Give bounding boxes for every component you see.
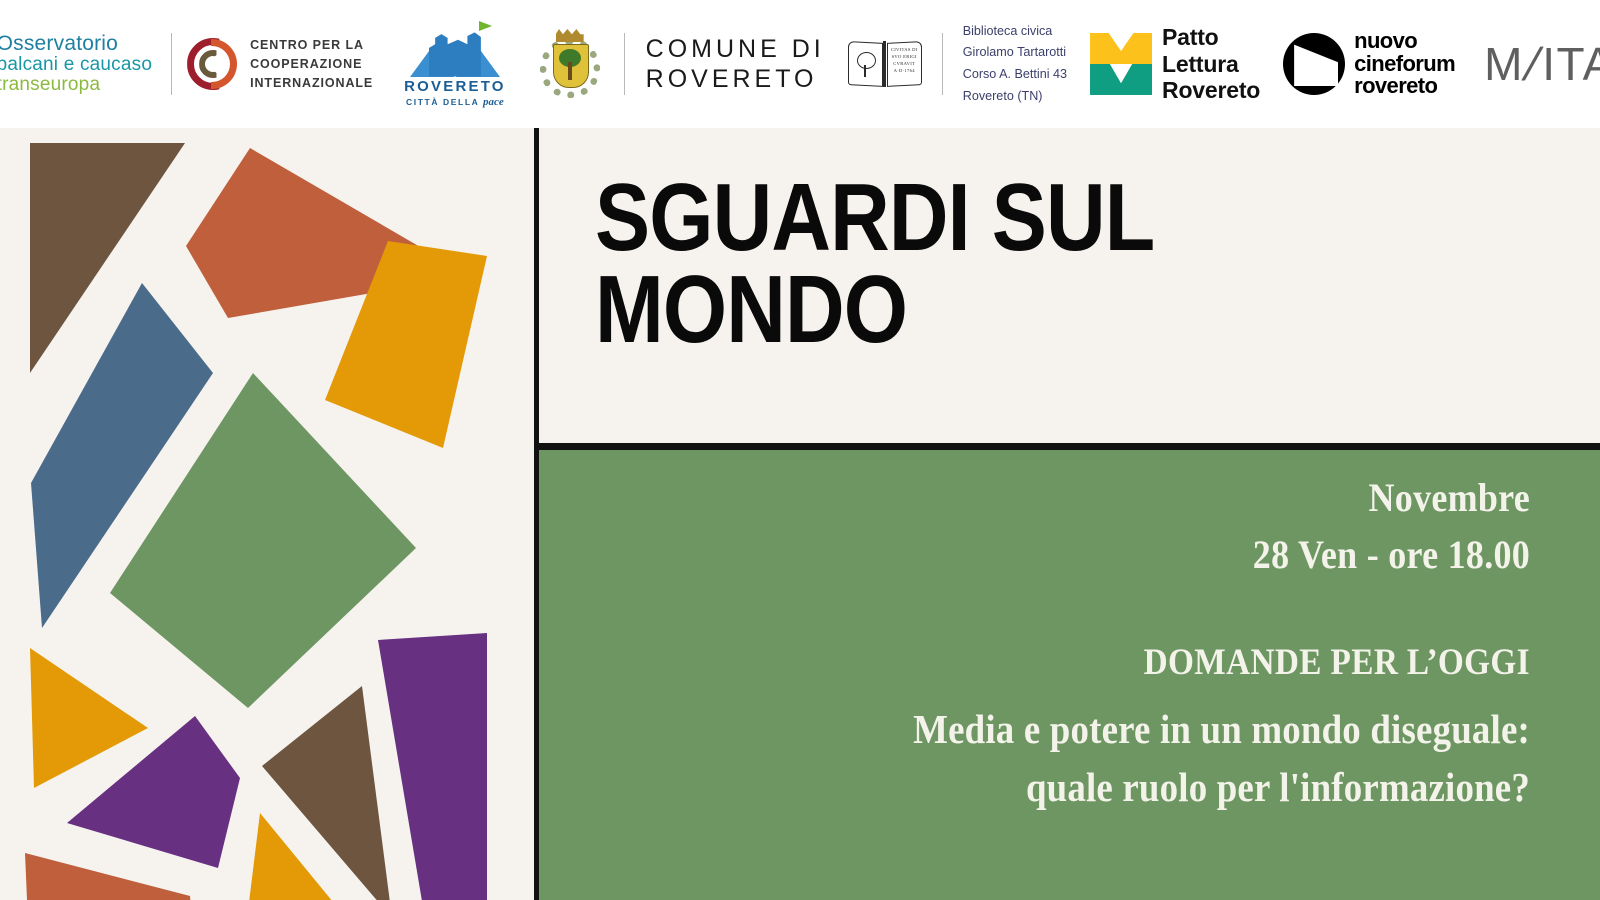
patto-line1: Patto bbox=[1162, 24, 1260, 51]
rovereto-skyline-icon bbox=[412, 21, 498, 77]
horizontal-divider-rule bbox=[534, 443, 1600, 450]
poster-root: Osservatorio balcani e caucaso transeuro… bbox=[0, 0, 1600, 900]
ccin-line1: CENTRO PER LA bbox=[250, 36, 373, 55]
logo-rovereto-citta-della-pace: ROVERETO CITTÀ DELLA pace bbox=[396, 21, 514, 108]
biblioteca-line4: Rovereto (TN) bbox=[963, 86, 1067, 108]
patto-wordmark: Patto Lettura Rovereto bbox=[1162, 24, 1260, 104]
event-subtitle-line2: quale ruolo per l'informazione? bbox=[674, 758, 1530, 816]
obct-line3: transeuropa bbox=[0, 75, 152, 95]
ccin-line3: INTERNAZIONALE bbox=[250, 74, 373, 93]
comune-wordmark: COMUNE DI ROVERETO bbox=[646, 34, 825, 95]
cineforum-wordmark: nuovo cineforum rovereto bbox=[1354, 30, 1455, 99]
logo-divider bbox=[942, 33, 943, 95]
patto-line3: Rovereto bbox=[1162, 77, 1260, 104]
vertical-divider-rule bbox=[534, 128, 539, 900]
logo-centro-cooperazione-internazionale: CENTRO PER LA COOPERAZIONE INTERNAZIONAL… bbox=[183, 36, 373, 93]
obct-line2: balcani e caucaso bbox=[0, 55, 152, 75]
comune-line1: COMUNE DI bbox=[646, 34, 825, 65]
page-title: SGUARDI SUL MONDO bbox=[595, 172, 1425, 356]
event-spacer bbox=[579, 578, 1530, 640]
rcp-line1: ROVERETO bbox=[404, 78, 506, 95]
event-series-kicker: DOMANDE PER L’OGGI bbox=[674, 640, 1530, 685]
biblioteca-line3: Corso A. Bettini 43 bbox=[963, 64, 1067, 86]
cineforum-line2: cineforum bbox=[1354, 53, 1455, 76]
event-details-panel: Novembre 28 Ven - ore 18.00 DOMANDE PER … bbox=[539, 450, 1600, 900]
ccin-line2: COOPERAZIONE bbox=[250, 55, 373, 74]
logo-mitag: M/ITA/G bbox=[1478, 37, 1600, 91]
event-date-time: 28 Ven - ore 18.00 bbox=[674, 531, 1530, 578]
biblioteca-line2: Girolamo Tartarotti bbox=[963, 42, 1067, 64]
title-panel: SGUARDI SUL MONDO bbox=[539, 128, 1600, 448]
patto-line2: Lettura bbox=[1162, 51, 1260, 78]
cineforum-line1: nuovo bbox=[1354, 30, 1455, 53]
logo-nuovo-cineforum-rovereto: nuovo cineforum rovereto bbox=[1283, 30, 1455, 99]
rcp-line2: CITTÀ DELLA pace bbox=[406, 96, 504, 108]
mitag-part-ita: ITA bbox=[1542, 38, 1600, 90]
open-book-icon: CIVITAS DI SVO ERIGI CVRAVIT A·D·1764 bbox=[848, 38, 922, 90]
event-subtitle: Media e potere in un mondo diseguale: qu… bbox=[674, 700, 1530, 816]
event-subtitle-line1: Media e potere in un mondo diseguale: bbox=[674, 700, 1530, 758]
sponsor-logo-bar: Osservatorio balcani e caucaso transeuro… bbox=[0, 0, 1600, 128]
book-crest-text: CIVITAS DI SVO ERIGI CVRAVIT A·D·1764 bbox=[889, 47, 920, 75]
logo-patto-lettura-rovereto: Patto Lettura Rovereto bbox=[1090, 24, 1260, 104]
ccin-wordmark: CENTRO PER LA COOPERAZIONE INTERNAZIONAL… bbox=[250, 36, 373, 93]
patto-open-book-icon bbox=[1090, 33, 1152, 95]
obct-wordmark: Osservatorio balcani e caucaso transeuro… bbox=[0, 33, 152, 94]
logo-divider bbox=[171, 33, 172, 95]
event-month: Novembre bbox=[674, 474, 1530, 521]
comune-crest-icon bbox=[537, 28, 603, 100]
artwork-svg bbox=[0, 128, 534, 900]
cineforum-disc-icon bbox=[1283, 33, 1345, 95]
comune-line2: ROVERETO bbox=[646, 64, 825, 95]
abstract-geometric-artwork bbox=[0, 128, 534, 900]
biblioteca-line1: Biblioteca civica bbox=[963, 21, 1067, 43]
logo-osservatorio-balcani-caucaso-transeuropa: Osservatorio balcani e caucaso transeuro… bbox=[0, 33, 160, 94]
biblioteca-address-block: Biblioteca civica Girolamo Tartarotti Co… bbox=[963, 21, 1067, 108]
cineforum-line3: rovereto bbox=[1354, 75, 1455, 98]
logo-comune-di-rovereto: COMUNE DI ROVERETO bbox=[537, 28, 825, 100]
ccin-circles-icon bbox=[187, 38, 239, 90]
mitag-wordmark: M/ITA/G bbox=[1478, 37, 1600, 91]
rcp-line2-script: pace bbox=[483, 96, 504, 108]
logo-divider bbox=[624, 33, 625, 95]
obct-line1: Osservatorio bbox=[0, 33, 152, 55]
rcp-line2-text: CITTÀ DELLA bbox=[406, 97, 479, 107]
logo-biblioteca-civica-girolamo-tartarotti: CIVITAS DI SVO ERIGI CVRAVIT A·D·1764 Bi… bbox=[848, 21, 1067, 108]
